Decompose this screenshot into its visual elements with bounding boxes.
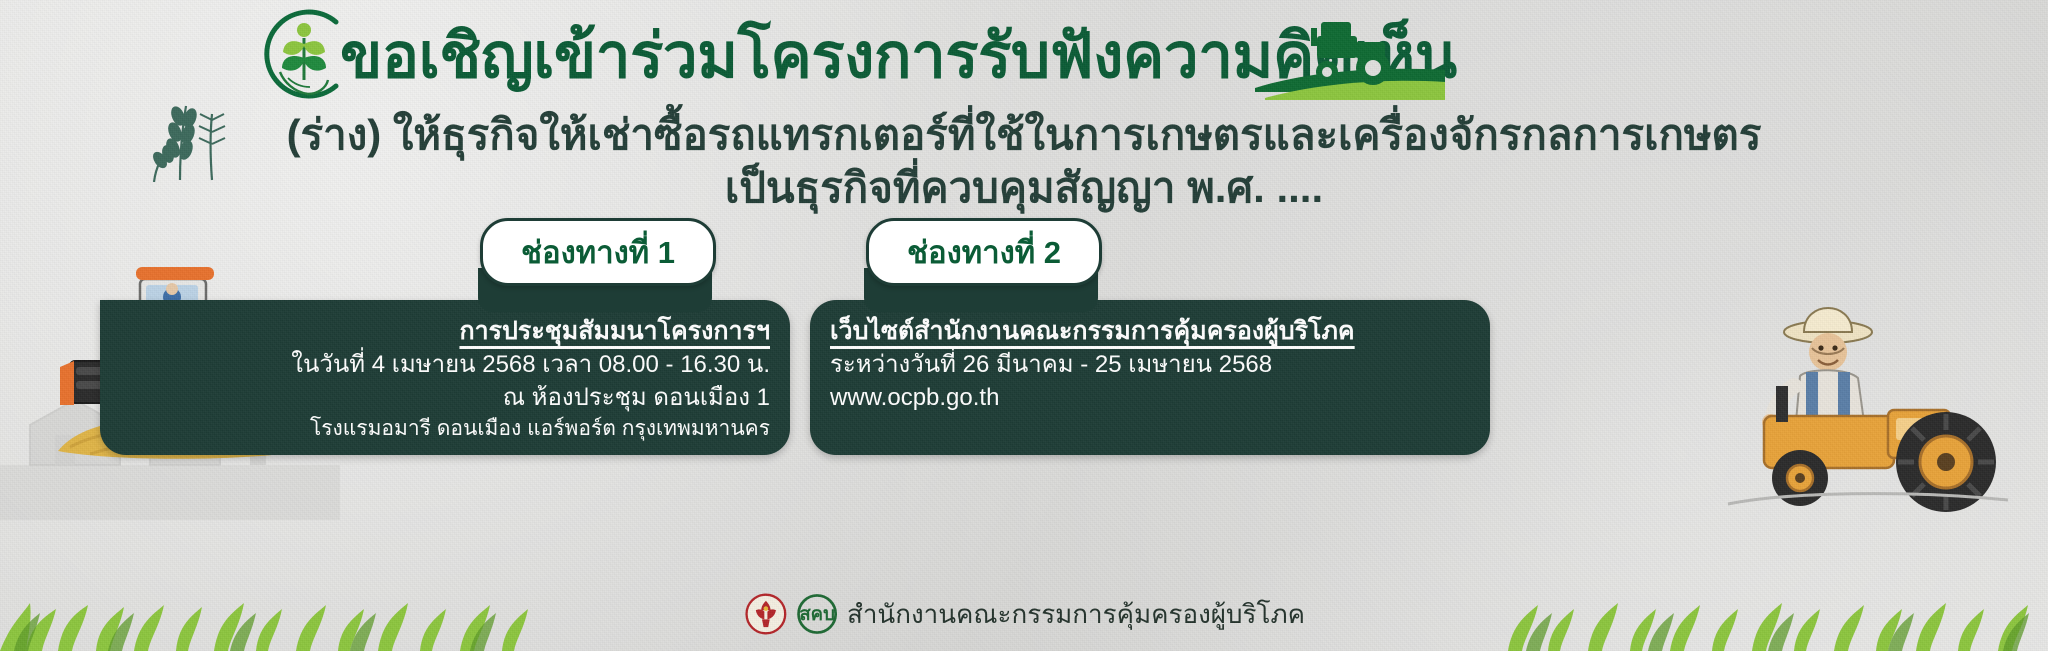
ocpb-logo-icon: สคบ <box>797 588 837 640</box>
farmer-on-tractor-illustration <box>1708 290 2038 525</box>
subtitle-line-1: (ร่าง) ให้ธุรกิจให้เช่าซื้อรถแทรกเตอร์ที… <box>140 108 1908 161</box>
plant-in-hand-logo-icon <box>258 8 350 100</box>
channel-1-line-3: โรงแรมอมารี ดอนเมือง แอร์พอร์ต กรุงเทพมห… <box>120 414 770 444</box>
channel-1-line-1: ในวันที่ 4 เมษายน 2568 เวลา 08.00 - 16.3… <box>120 348 770 381</box>
channel-2-content: เว็บไซต์สำนักงานคณะกรรมการคุ้มครองผู้บริ… <box>810 300 1490 455</box>
banner-root: ขอเชิญเข้าร่วมโครงการรับฟังความคิดเห็น <box>0 0 2048 651</box>
tractor-field-icon <box>1255 14 1445 100</box>
channel-2-website[interactable]: www.ocpb.go.th <box>830 381 1470 414</box>
svg-text:สคบ: สคบ <box>799 604 835 625</box>
footer-logo-row: สคบ สำนักงานคณะกรรมการคุ้มครองผู้บริโภค <box>745 583 1305 645</box>
channel-2-title: เว็บไซต์สำนักงานคณะกรรมการคุ้มครองผู้บริ… <box>830 314 1470 348</box>
garuda-emblem-icon <box>745 587 787 641</box>
channel-1-content: การประชุมสัมมนาโครงการฯ ในวันที่ 4 เมษาย… <box>100 300 790 455</box>
subtitle-block: (ร่าง) ให้ธุรกิจให้เช่าซื้อรถแทรกเตอร์ที… <box>140 108 1908 214</box>
channel-2-card: เว็บไซต์สำนักงานคณะกรรมการคุ้มครองผู้บริ… <box>810 300 1490 455</box>
agency-name: สำนักงานคณะกรรมการคุ้มครองผู้บริโภค <box>847 594 1305 635</box>
grass-border-icon <box>1348 593 2048 651</box>
subtitle-line-2: เป็นธุรกิจที่ควบคุมสัญญา พ.ศ. .... <box>140 161 1908 214</box>
channel-1-card: การประชุมสัมมนาโครงการฯ ในวันที่ 4 เมษาย… <box>100 300 790 455</box>
grass-border-icon <box>0 593 700 651</box>
channel-1-tab[interactable]: ช่องทางที่ 1 <box>480 218 716 286</box>
channel-1-title: การประชุมสัมมนาโครงการฯ <box>120 314 770 348</box>
channel-1-tab-label: ช่องทางที่ 1 <box>521 227 675 277</box>
channel-2-line-1: ระหว่างวันที่ 26 มีนาคม - 25 เมษายน 2568 <box>830 348 1470 381</box>
channel-2-tab-label: ช่องทางที่ 2 <box>907 227 1061 277</box>
channel-2-tab[interactable]: ช่องทางที่ 2 <box>866 218 1102 286</box>
channel-1-line-2: ณ ห้องประชุม ดอนเมือง 1 <box>120 381 770 414</box>
